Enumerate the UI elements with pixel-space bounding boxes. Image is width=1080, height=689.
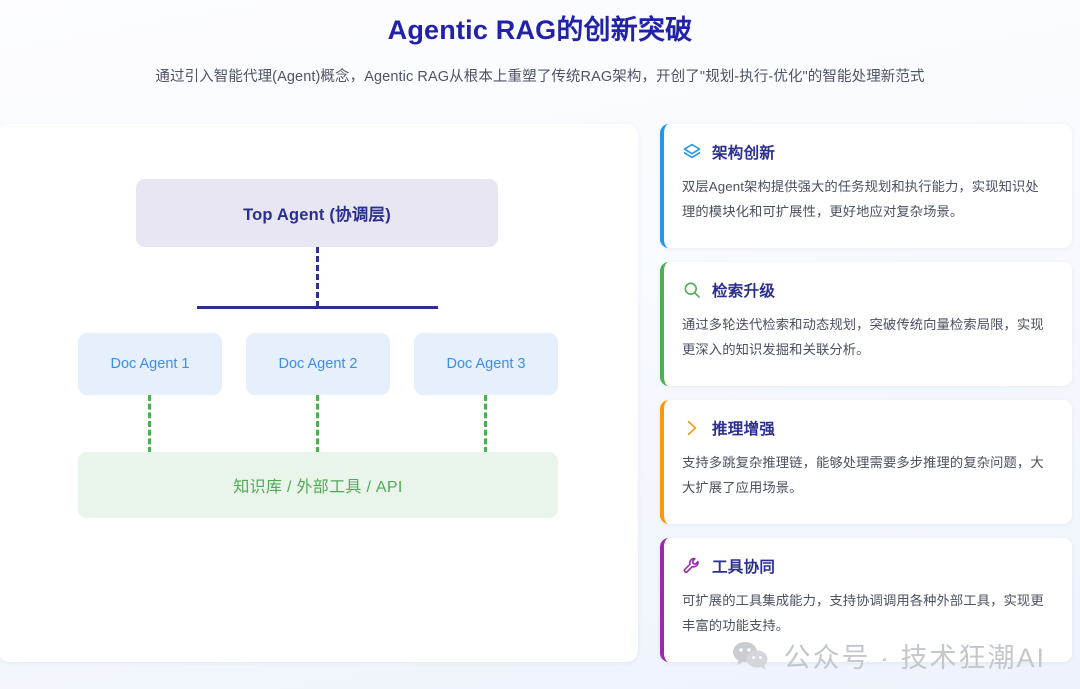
feature-card-retrieval[interactable]: 检索升级 通过多轮迭代检索和动态规划，突破传统向量检索局限，实现更深入的知识发掘… [660, 262, 1072, 386]
doc-agent-label: Doc Agent 2 [279, 356, 358, 372]
doc-agent-label: Doc Agent 1 [111, 356, 190, 372]
feature-card-reasoning[interactable]: 推理增强 支持多跳复杂推理链，能够处理需要多步推理的复杂问题，大大扩展了应用场景… [660, 400, 1072, 524]
feature-card-title: 检索升级 [712, 279, 775, 301]
doc-agent-connector-3 [484, 395, 487, 453]
doc-agent-label: Doc Agent 3 [447, 356, 526, 372]
feature-card-tools[interactable]: 工具协同 可扩展的工具集成能力，支持协调调用各种外部工具，实现更丰富的功能支持。 [660, 538, 1072, 662]
wrench-icon [682, 556, 702, 576]
search-icon [682, 280, 702, 300]
top-agent-node[interactable]: Top Agent (协调层) [136, 179, 498, 247]
feature-card-header: 检索升级 [682, 279, 1052, 301]
chevron-right-icon [682, 418, 702, 438]
feature-card-architecture[interactable]: 架构创新 双层Agent架构提供强大的任务规划和执行能力，实现知识处理的模块化和… [660, 124, 1072, 248]
top-agent-label: Top Agent (协调层) [243, 201, 391, 225]
knowledge-base-label: 知识库 / 外部工具 / API [233, 473, 402, 497]
page-header: Agentic RAG的创新突破 通过引入智能代理(Agent)概念，Agent… [0, 0, 1080, 88]
feature-card-description: 可扩展的工具集成能力，支持协调调用各种外部工具，实现更丰富的功能支持。 [682, 588, 1052, 638]
feature-card-description: 支持多跳复杂推理链，能够处理需要多步推理的复杂问题，大大扩展了应用场景。 [682, 450, 1052, 500]
doc-agent-connector-2 [316, 395, 319, 453]
feature-card-header: 推理增强 [682, 417, 1052, 439]
feature-card-title: 推理增强 [712, 417, 775, 439]
main-content: Top Agent (协调层) Doc Agent 1 Doc Agent 2 … [0, 124, 1080, 689]
feature-card-title: 架构创新 [712, 141, 775, 163]
doc-agent-node-3[interactable]: Doc Agent 3 [414, 333, 558, 395]
architecture-diagram-panel: Top Agent (协调层) Doc Agent 1 Doc Agent 2 … [0, 124, 638, 662]
top-agent-connector-horizontal [197, 306, 438, 309]
feature-card-header: 架构创新 [682, 141, 1052, 163]
feature-card-list: 架构创新 双层Agent架构提供强大的任务规划和执行能力，实现知识处理的模块化和… [660, 124, 1072, 662]
feature-card-title: 工具协同 [712, 555, 775, 577]
doc-agent-node-1[interactable]: Doc Agent 1 [78, 333, 222, 395]
doc-agent-node-2[interactable]: Doc Agent 2 [246, 333, 390, 395]
knowledge-base-node[interactable]: 知识库 / 外部工具 / API [78, 452, 558, 518]
page-subtitle: 通过引入智能代理(Agent)概念，Agentic RAG从根本上重塑了传统RA… [0, 66, 1080, 88]
feature-card-header: 工具协同 [682, 555, 1052, 577]
feature-card-description: 通过多轮迭代检索和动态规划，突破传统向量检索局限，实现更深入的知识发掘和关联分析… [682, 312, 1052, 362]
page-title: Agentic RAG的创新突破 [0, 13, 1080, 47]
feature-card-description: 双层Agent架构提供强大的任务规划和执行能力，实现知识处理的模块化和可扩展性，… [682, 174, 1052, 224]
doc-agent-connector-1 [148, 395, 151, 453]
layers-icon [682, 142, 702, 162]
doc-agent-row: Doc Agent 1 Doc Agent 2 Doc Agent 3 [78, 333, 558, 395]
top-agent-connector-vertical [316, 247, 319, 307]
